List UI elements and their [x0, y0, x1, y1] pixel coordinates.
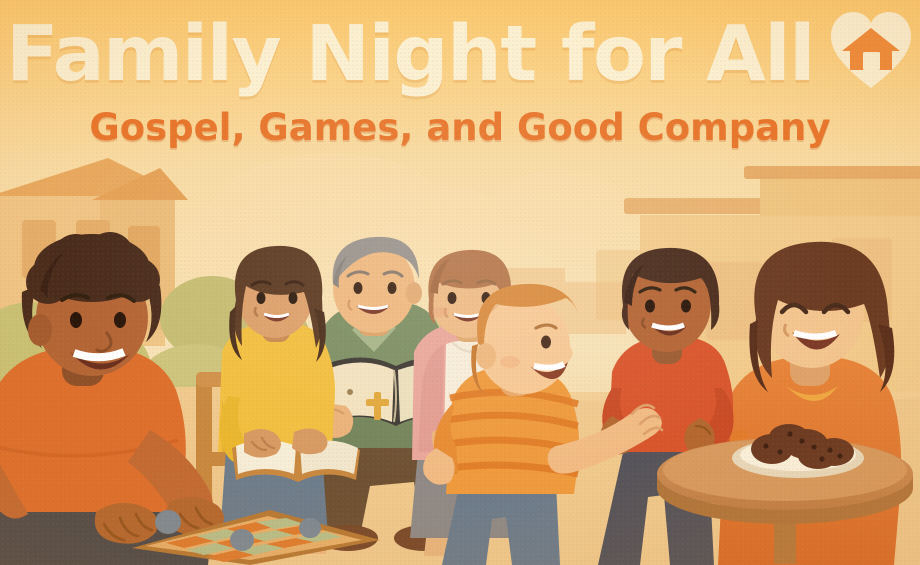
poster-canvas: Family Night for All Gospel, Games, and … — [0, 0, 920, 565]
poster-header: Family Night for All Gospel, Games, and … — [0, 0, 920, 170]
page-title: Family Night for All — [6, 16, 814, 93]
page-subtitle: Gospel, Games, and Good Company — [0, 106, 920, 149]
heart-house-icon — [828, 8, 914, 92]
title-row: Family Night for All — [0, 8, 920, 100]
